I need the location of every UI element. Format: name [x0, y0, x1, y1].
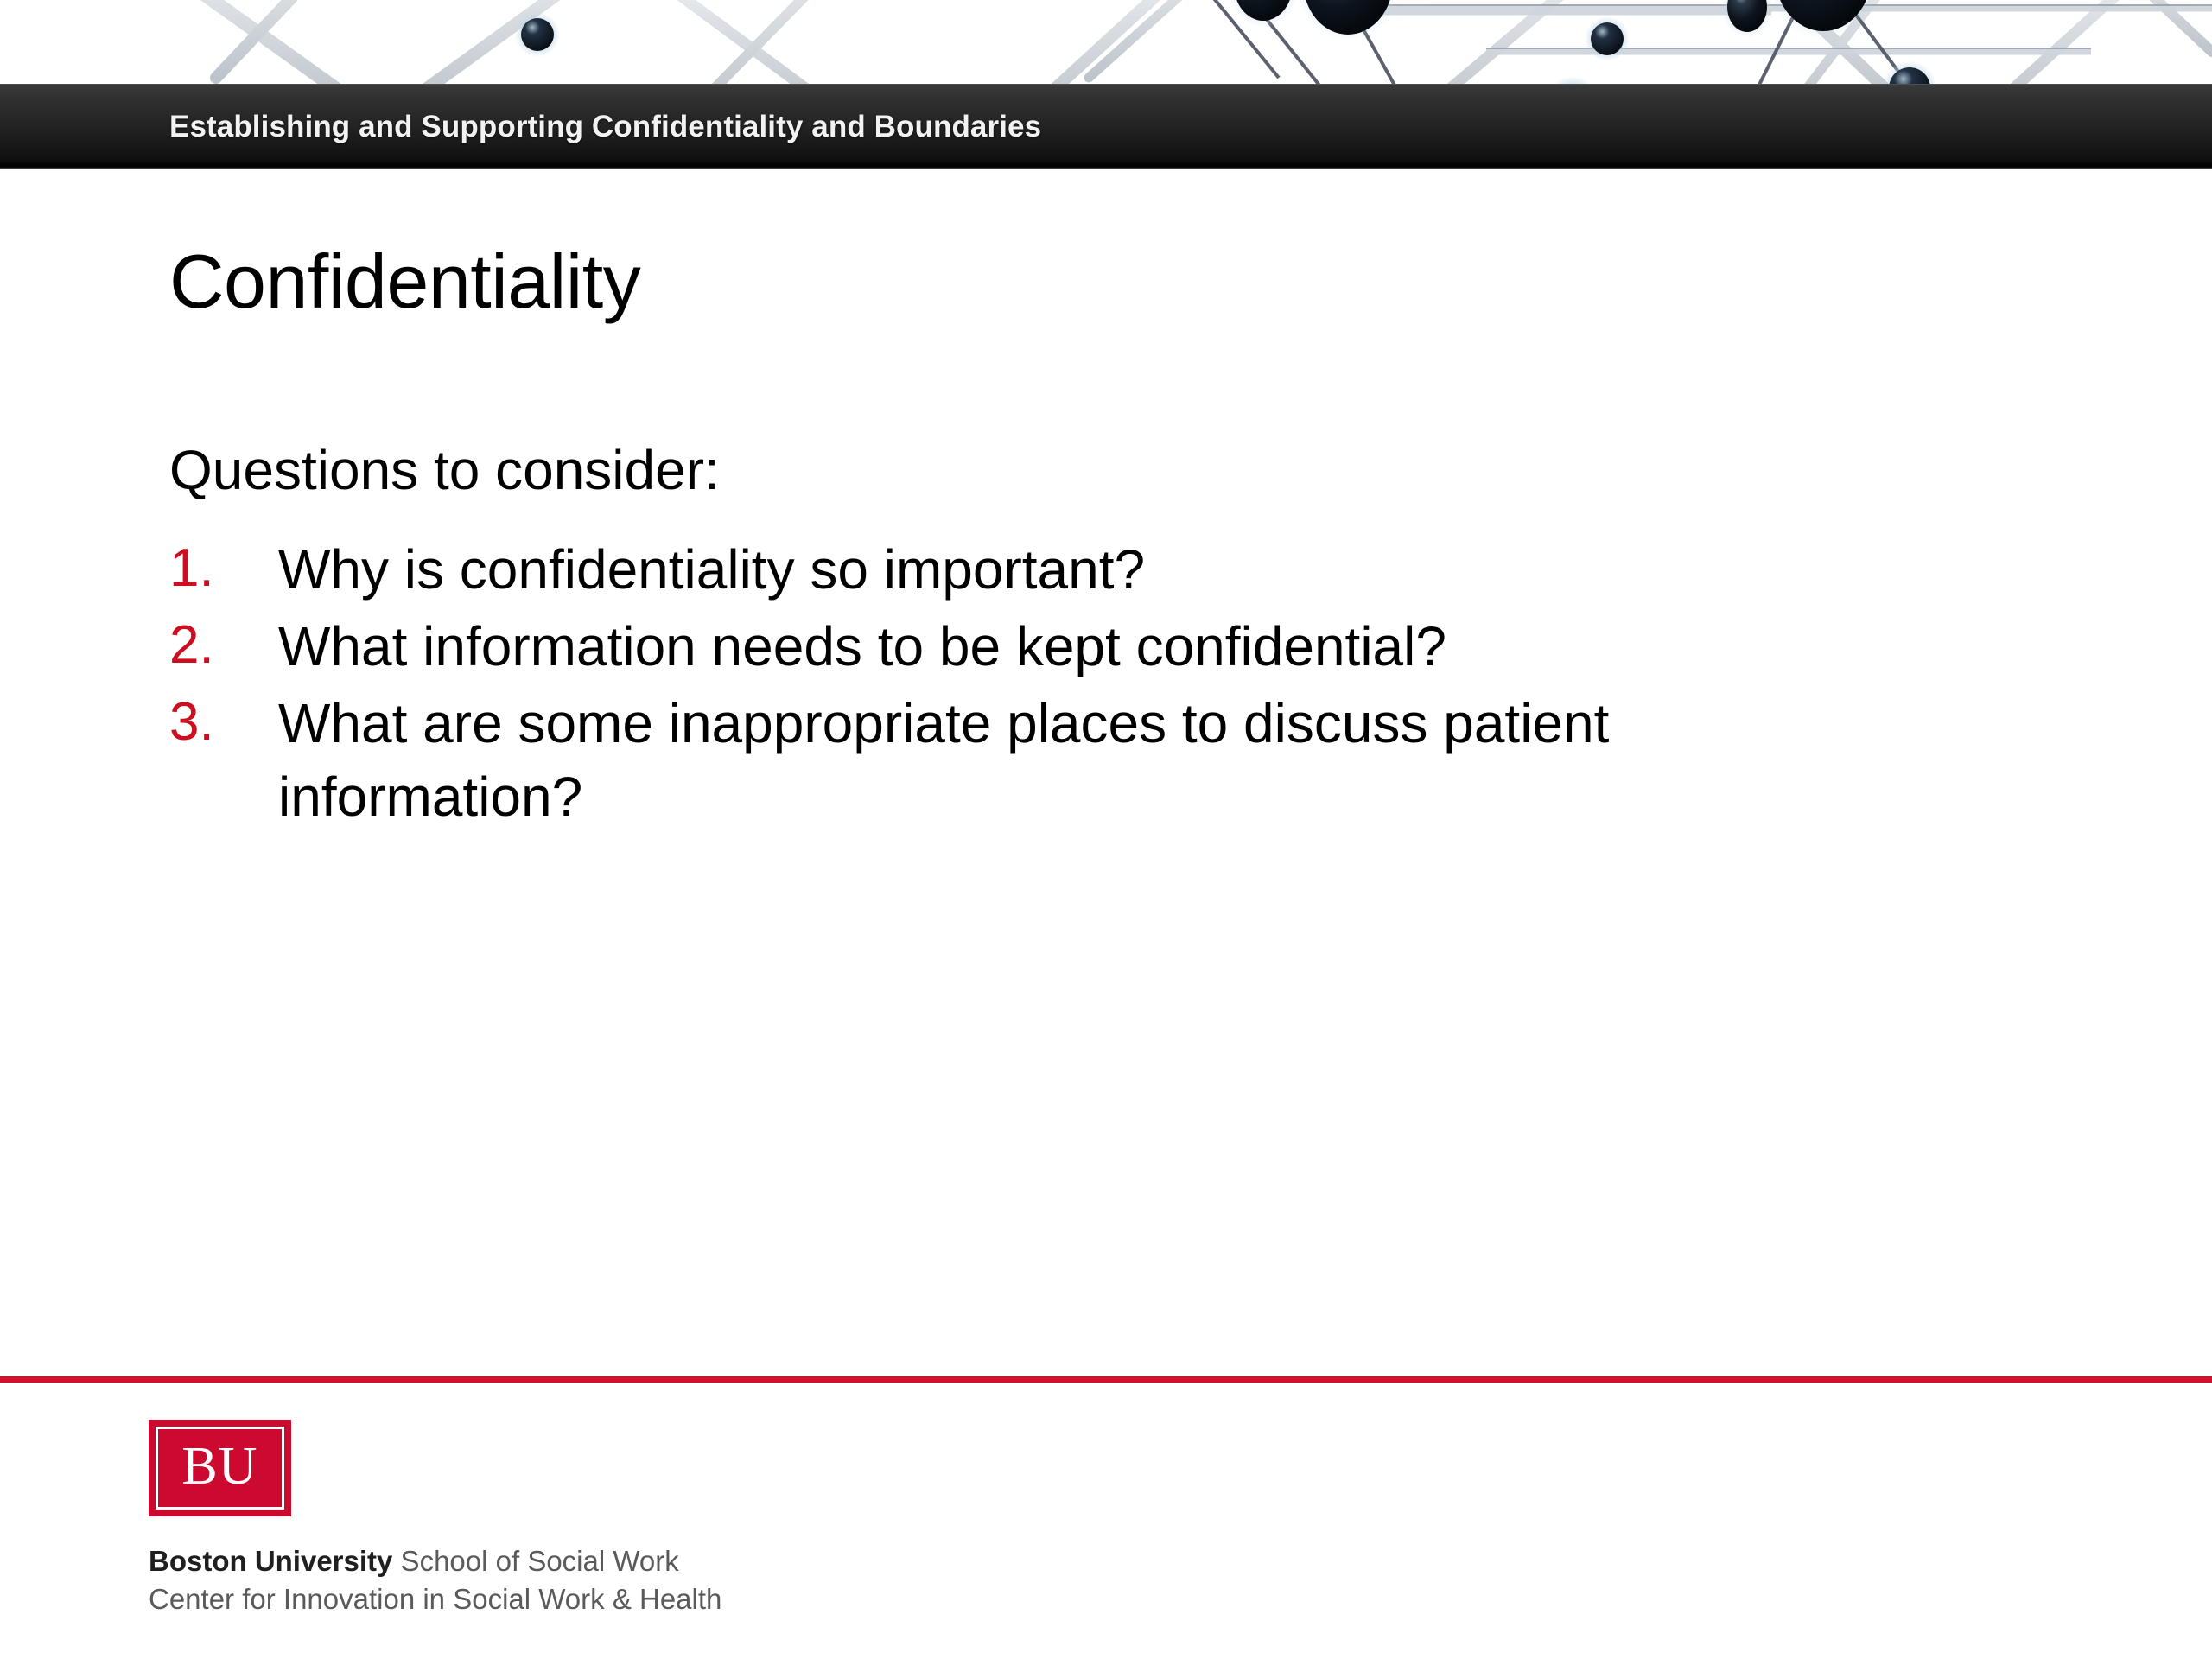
- footer-divider: [0, 1376, 2212, 1382]
- header-bar: Establishing and Supporting Confidential…: [0, 84, 2212, 169]
- footer-text-block: Boston University School of Social Work …: [149, 1542, 1185, 1618]
- footer-branding: BU Boston University School of Social Wo…: [149, 1420, 1185, 1618]
- molecular-network-graphic: [0, 0, 2212, 85]
- bu-logo-letters: BU: [181, 1440, 257, 1493]
- footer-school-name: School of Social Work: [392, 1545, 678, 1577]
- list-item: 2. What information needs to be kept con…: [169, 610, 2088, 683]
- bu-shield-logo: BU: [149, 1420, 291, 1516]
- list-item-number: 1.: [169, 533, 278, 604]
- bu-logo-frame: BU: [156, 1427, 284, 1510]
- slide-body: Questions to consider: 1. Why is confide…: [169, 441, 2088, 838]
- list-item-text: What information needs to be kept confid…: [278, 610, 1859, 683]
- footer-university-name: Boston University: [149, 1545, 392, 1577]
- lead-text: Questions to consider:: [169, 441, 2088, 500]
- slide-canvas: Establishing and Supporting Confidential…: [0, 0, 2212, 1659]
- footer-org-line: Boston University School of Social Work: [149, 1542, 1185, 1580]
- list-item-text: Why is confidentiality so important?: [278, 533, 1859, 607]
- list-item: 3. What are some inappropriate places to…: [169, 687, 2088, 834]
- page-title: Confidentiality: [169, 242, 640, 321]
- questions-list: 1. Why is confidentiality so important? …: [169, 533, 2088, 834]
- list-item-number: 2.: [169, 610, 278, 681]
- footer-center-name: Center for Innovation in Social Work & H…: [149, 1580, 1185, 1618]
- list-item-number: 3.: [169, 687, 278, 758]
- list-item-text: What are some inappropriate places to di…: [278, 687, 1859, 834]
- list-item: 1. Why is confidentiality so important?: [169, 533, 2088, 607]
- running-header-title: Establishing and Supporting Confidential…: [169, 110, 1041, 144]
